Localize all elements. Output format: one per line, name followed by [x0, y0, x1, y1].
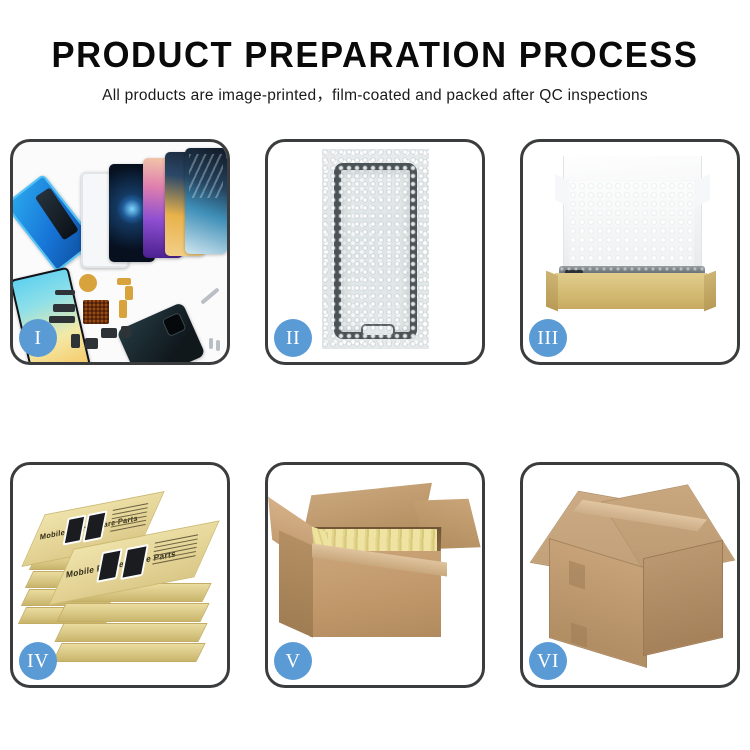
box-lid-flap-right	[694, 174, 710, 209]
part-screw-2	[216, 340, 220, 351]
bubble-wrap-sheet	[322, 149, 429, 349]
step-badge-4: IV	[19, 642, 57, 680]
process-step-grid: I II III	[10, 139, 740, 688]
process-step-panel-4[interactable]: Mobile Phone Spare Parts Mobile Phone Sp…	[10, 462, 230, 688]
step-badge-5: V	[274, 642, 312, 680]
kraft-box-tray	[555, 273, 707, 309]
part-vibrator	[85, 338, 98, 349]
part-screw-1	[209, 338, 213, 349]
page-subtitle: All products are image-printed，film-coat…	[0, 85, 750, 107]
process-step-panel-3[interactable]: III	[520, 139, 740, 365]
phone-screen-striped	[185, 148, 227, 254]
process-step-panel-2[interactable]: II	[265, 139, 485, 365]
process-step-panel-1[interactable]: I	[10, 139, 230, 365]
part-flex-cable-2	[125, 286, 133, 300]
part-flex-cable-3	[119, 300, 127, 318]
process-step-panel-6[interactable]: VI	[520, 462, 740, 688]
part-tweezers	[200, 287, 219, 304]
part-connector-1	[55, 290, 75, 295]
part-gold-coil	[79, 274, 97, 292]
step-badge-1: I	[19, 319, 57, 357]
step-badge-3: III	[529, 319, 567, 357]
sealed-carton-side-face	[643, 540, 723, 656]
part-flex-strip-1	[53, 304, 75, 312]
process-step-panel-5[interactable]: V	[265, 462, 485, 688]
bubble-texture-overlay	[322, 149, 429, 349]
carton-left-face	[279, 530, 313, 637]
part-flex-cable-1	[117, 278, 131, 285]
step-badge-6: VI	[529, 642, 567, 680]
carton-hand-hole-upper	[569, 561, 585, 590]
step-badge-2: II	[274, 319, 312, 357]
box-tray-side-right	[704, 271, 716, 312]
page-header: PRODUCT PREPARATION PROCESS All products…	[0, 0, 750, 107]
stack-layer-r2	[56, 603, 209, 622]
part-ic-grid	[83, 300, 109, 324]
part-speaker	[101, 328, 117, 338]
page-title: PRODUCT PREPARATION PROCESS	[15, 34, 735, 76]
stack-layer-r4	[52, 643, 205, 662]
foam-padding	[569, 182, 694, 274]
part-camera-module	[121, 326, 131, 338]
part-battery-small	[71, 334, 80, 348]
part-flex-strip-2	[49, 316, 75, 323]
stack-layer-r3	[54, 623, 207, 642]
box-tray-side-left	[546, 271, 558, 312]
